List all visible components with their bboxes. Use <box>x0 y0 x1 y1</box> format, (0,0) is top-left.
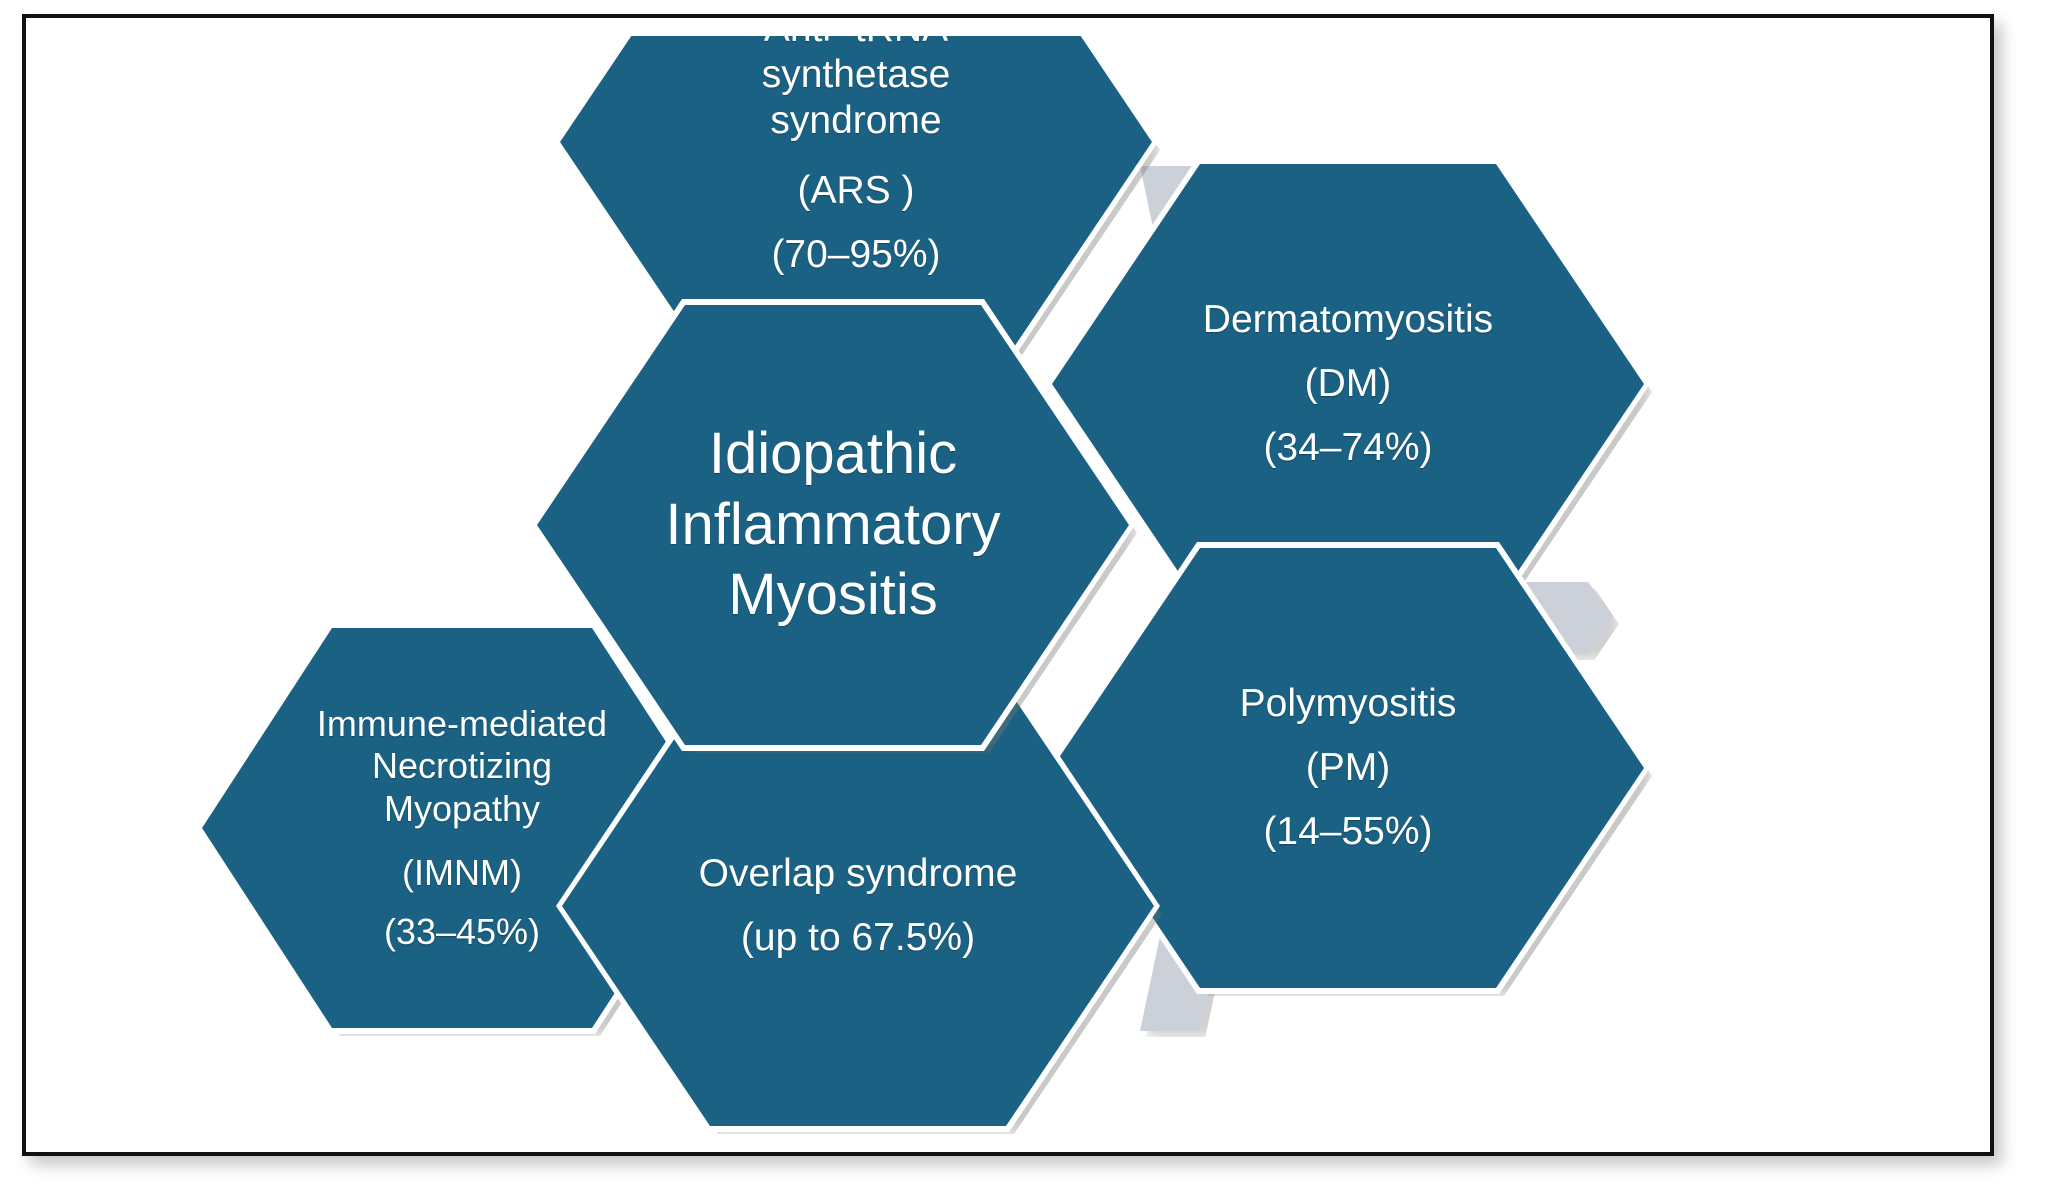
hexagon-pm-name-line1: Polymyositis <box>1240 681 1457 727</box>
hexagon-ars-percent: (70–95%) <box>762 232 951 278</box>
hexagon-ars-name-line1: Anti- tRNA <box>762 36 951 52</box>
spacer <box>1203 407 1493 425</box>
hexagon-overlap-percent: (up to 67.5%) <box>699 915 1018 961</box>
hexagon-pm-abbr: (PM) <box>1240 745 1457 791</box>
figure-frame: Anti- tRNA synthetase syndrome (ARS ) (7… <box>22 14 1994 1156</box>
hexagon-pm-label: Polymyositis (PM) (14–55%) <box>1216 681 1480 854</box>
hexagon-dm-label: Dermatomyositis (DM) (34–74%) <box>1179 297 1517 470</box>
hexagon-central-line2: Inflammatory <box>665 490 1000 561</box>
hexagon-dm-name-line1: Dermatomyositis <box>1203 297 1493 343</box>
hexagon-ars-label: Anti- tRNA synthetase syndrome (ARS ) (7… <box>738 36 974 278</box>
hexagon-overlap-label: Overlap syndrome (up to 67.5%) <box>675 851 1041 961</box>
spacer <box>762 214 951 232</box>
hexagon-central-line3: Myositis <box>665 560 1000 631</box>
diagram-canvas: Anti- tRNA synthetase syndrome (ARS ) (7… <box>52 36 2016 1170</box>
hexagon-imnm-abbr: (IMNM) <box>317 852 607 894</box>
hexagon-imnm-percent: (33–45%) <box>317 911 607 953</box>
hexagon-ars-abbr: (ARS ) <box>762 168 951 214</box>
hexagon-ars-name-line2: synthetase <box>762 52 951 98</box>
hexagon-dm-abbr: (DM) <box>1203 361 1493 407</box>
hexagon-central-line1: Idiopathic <box>665 419 1000 490</box>
spacer <box>762 144 951 168</box>
hexagon-central-label: Idiopathic Inflammatory Myositis <box>642 419 1025 631</box>
spacer <box>1203 343 1493 361</box>
hexagon-dermatomyositis[interactable]: Dermatomyositis (DM) (34–74%) <box>1052 164 1644 604</box>
spacer <box>1240 791 1457 809</box>
hexagon-imnm-name-line1: Immune-mediated <box>317 703 607 745</box>
hexagon-ars-name-line3: syndrome <box>762 98 951 144</box>
hexagon-pm-percent: (14–55%) <box>1240 809 1457 855</box>
spacer <box>699 897 1018 915</box>
figure-page: Anti- tRNA synthetase syndrome (ARS ) (7… <box>0 0 2056 1190</box>
hexagon-imnm-name-line2: Necrotizing <box>317 745 607 787</box>
hexagon-dm-percent: (34–74%) <box>1203 425 1493 471</box>
hexagon-overlap-name-line1: Overlap syndrome <box>699 851 1018 897</box>
spacer <box>1240 727 1457 745</box>
hexagon-imnm-name-line3: Myopathy <box>317 788 607 830</box>
spacer <box>317 830 607 852</box>
